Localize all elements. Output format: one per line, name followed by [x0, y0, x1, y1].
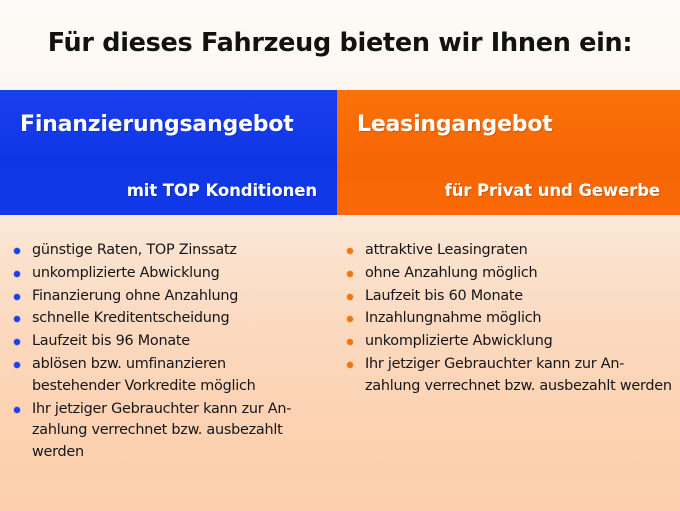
- list-item-line1: schnelle Kreditentscheidung: [32, 310, 229, 326]
- bullet-dot-icon: [14, 248, 20, 254]
- bullet-dot-icon: [14, 339, 20, 345]
- bullet-dot-icon: [347, 271, 353, 277]
- list-item-line1: ohne Anzahlung möglich: [365, 265, 537, 281]
- list-item: Ihr jetziger Gebrauchter kann zur An- za…: [12, 399, 337, 464]
- list-item-line1: Laufzeit bis 60 Monate: [365, 288, 523, 304]
- page-title: Für dieses Fahrzeug bieten wir Ihnen ein…: [0, 28, 680, 58]
- leasing-column: attraktive Leasingraten ohne Anzahlung m…: [337, 240, 680, 465]
- finance-bullet-list: günstige Raten, TOP Zinssatz unkomplizie…: [12, 240, 337, 464]
- list-item-line1: unkomplizierte Abwicklung: [32, 265, 220, 281]
- list-item-line1: ablösen bzw. umfinanzieren: [32, 356, 226, 372]
- list-item-line1: Ihr jetziger Gebrauchter kann zur An-: [365, 356, 624, 372]
- finance-column: günstige Raten, TOP Zinssatz unkomplizie…: [0, 240, 337, 465]
- bullet-dot-icon: [347, 248, 353, 254]
- list-item: Laufzeit bis 96 Monate: [12, 331, 337, 353]
- list-item-line2: bestehender Vorkredite möglich: [32, 376, 337, 398]
- offer-poster: Für dieses Fahrzeug bieten wir Ihnen ein…: [0, 0, 680, 511]
- bullet-dot-icon: [347, 294, 353, 300]
- list-item: günstige Raten, TOP Zinssatz: [12, 240, 337, 262]
- bullet-columns: günstige Raten, TOP Zinssatz unkomplizie…: [0, 240, 680, 465]
- list-item: Ihr jetziger Gebrauchter kann zur An- za…: [345, 354, 680, 398]
- bullet-dot-icon: [14, 407, 20, 413]
- finance-banner: Finanzierungsangebot mit TOP Konditionen: [0, 90, 337, 215]
- leasing-bullet-list: attraktive Leasingraten ohne Anzahlung m…: [345, 240, 680, 398]
- bullet-dot-icon: [14, 294, 20, 300]
- bullet-dot-icon: [347, 339, 353, 345]
- list-item-line1: Laufzeit bis 96 Monate: [32, 333, 190, 349]
- bullet-dot-icon: [347, 362, 353, 368]
- banner-strip: Finanzierungsangebot mit TOP Konditionen…: [0, 90, 680, 215]
- list-item-line1: Inzahlungnahme möglich: [365, 310, 541, 326]
- leasing-banner: Leasingangebot für Privat und Gewerbe: [337, 90, 680, 215]
- list-item-line1: Ihr jetziger Gebrauchter kann zur An-: [32, 401, 291, 417]
- list-item-line1: günstige Raten, TOP Zinssatz: [32, 242, 237, 258]
- list-item: Inzahlungnahme möglich: [345, 308, 680, 330]
- leasing-banner-title: Leasingangebot: [357, 112, 553, 137]
- bullet-dot-icon: [347, 316, 353, 322]
- list-item: Laufzeit bis 60 Monate: [345, 286, 680, 308]
- list-item-line2: zahlung verrechnet bzw. ausbezahlt werde…: [32, 420, 337, 464]
- list-item-line2: zahlung verrechnet bzw. ausbezahlt werde…: [365, 376, 680, 398]
- list-item-line1: Finanzierung ohne Anzahlung: [32, 288, 238, 304]
- bullet-dot-icon: [14, 362, 20, 368]
- list-item: attraktive Leasingraten: [345, 240, 680, 262]
- leasing-banner-subtitle: für Privat und Gewerbe: [445, 181, 660, 200]
- list-item-line1: unkomplizierte Abwicklung: [365, 333, 553, 349]
- bullet-dot-icon: [14, 271, 20, 277]
- list-item: unkomplizierte Abwicklung: [345, 331, 680, 353]
- list-item: ohne Anzahlung möglich: [345, 263, 680, 285]
- list-item: unkomplizierte Abwicklung: [12, 263, 337, 285]
- list-item: schnelle Kreditentscheidung: [12, 308, 337, 330]
- finance-banner-title: Finanzierungsangebot: [20, 112, 294, 137]
- finance-banner-subtitle: mit TOP Konditionen: [127, 181, 317, 200]
- list-item: ablösen bzw. umfinanzieren bestehender V…: [12, 354, 337, 398]
- bullet-dot-icon: [14, 316, 20, 322]
- list-item-line1: attraktive Leasingraten: [365, 242, 528, 258]
- list-item: Finanzierung ohne Anzahlung: [12, 286, 337, 308]
